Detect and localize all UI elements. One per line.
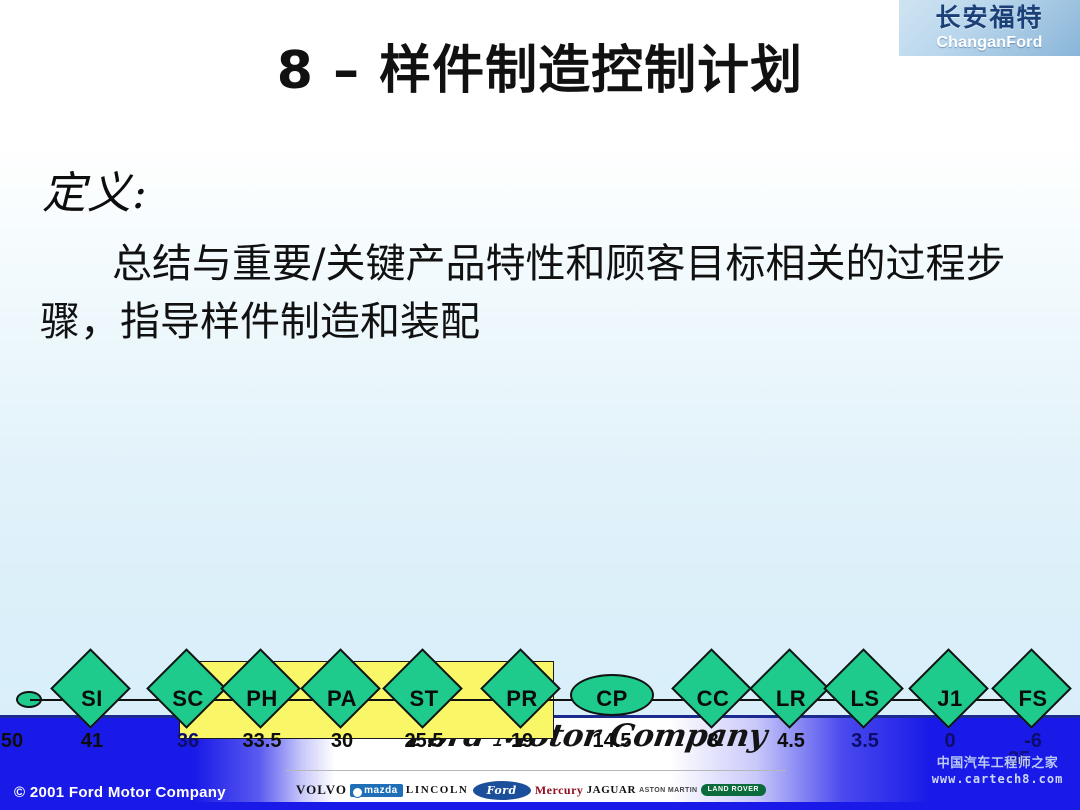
watermark-chinese: 中国汽车工程师之家 (920, 756, 1075, 772)
brand-logo-mazda: mazda (350, 784, 403, 797)
node-code-label: SC (148, 686, 228, 712)
node-code-label: LR (751, 686, 831, 712)
node-value-pr: 19 (477, 730, 567, 753)
footer-strip (0, 802, 1080, 810)
node-value-st: 25.5 (379, 730, 469, 753)
node-value-cp: 14.5 (567, 730, 657, 753)
node-value-pa: 30 (297, 730, 387, 753)
node-value-si: 41 (47, 730, 137, 753)
node-value-ls: 3.5 (820, 730, 910, 753)
node-code-label: J1 (910, 686, 990, 712)
brand-logo-jaguar: JAGUAR (587, 784, 636, 796)
node-value-ph: 33.5 (217, 730, 307, 753)
node-value-j1: 0 (905, 730, 995, 753)
node-code-label: ST (384, 686, 464, 712)
brand-logo-landrover: LAND ROVER (701, 784, 766, 796)
node-code-label: SI (52, 686, 132, 712)
brand-logo-volvo: VOLVO (296, 782, 347, 798)
node-code-label: PA (302, 686, 382, 712)
node-code-label: FS (993, 686, 1073, 712)
node-value-fs: -6 (988, 730, 1078, 753)
watermark-url: www.cartech8.com (920, 772, 1075, 787)
node-value-cc: 8 (668, 730, 758, 753)
definition-label: 定义: (42, 157, 148, 221)
node-code-label: CP (572, 686, 652, 712)
node-code-label: LS (825, 686, 905, 712)
definition-body-text: 总结与重要/关键产品特性和顾客目标相关的过程步骤，指导样件制造和装配 (40, 235, 1040, 351)
slide-canvas: 长安福特 ChanganFord 8 – 样件制造控制计划 定义: 总结与重要/… (0, 0, 1080, 810)
copyright-text: © 2001 Ford Motor Company (14, 784, 226, 801)
brand-logo-lincoln: LINCOLN (406, 784, 469, 796)
timeline-origin-value: 50 (0, 730, 57, 753)
brand-logo-mercury: Mercury (535, 783, 584, 798)
footer-hairline (286, 770, 786, 771)
milestone-timeline: SI41SC36PH33.5PA30ST25.5PR19CP14.5CC8LR4… (0, 650, 1080, 760)
page-title: 8 – 样件制造控制计划 (0, 28, 1080, 103)
site-watermark: 中国汽车工程师之家 www.cartech8.com (920, 756, 1075, 787)
node-code-label: PR (482, 686, 562, 712)
node-code-label: PH (222, 686, 302, 712)
brand-logo-strip: VOLVOmazdaLINCOLNFordMercuryJAGUARASTON … (296, 778, 766, 802)
node-code-label: CC (673, 686, 753, 712)
brand-logo-aston: ASTON MARTIN (639, 787, 697, 794)
brand-logo-ford-oval: Ford (472, 780, 532, 801)
